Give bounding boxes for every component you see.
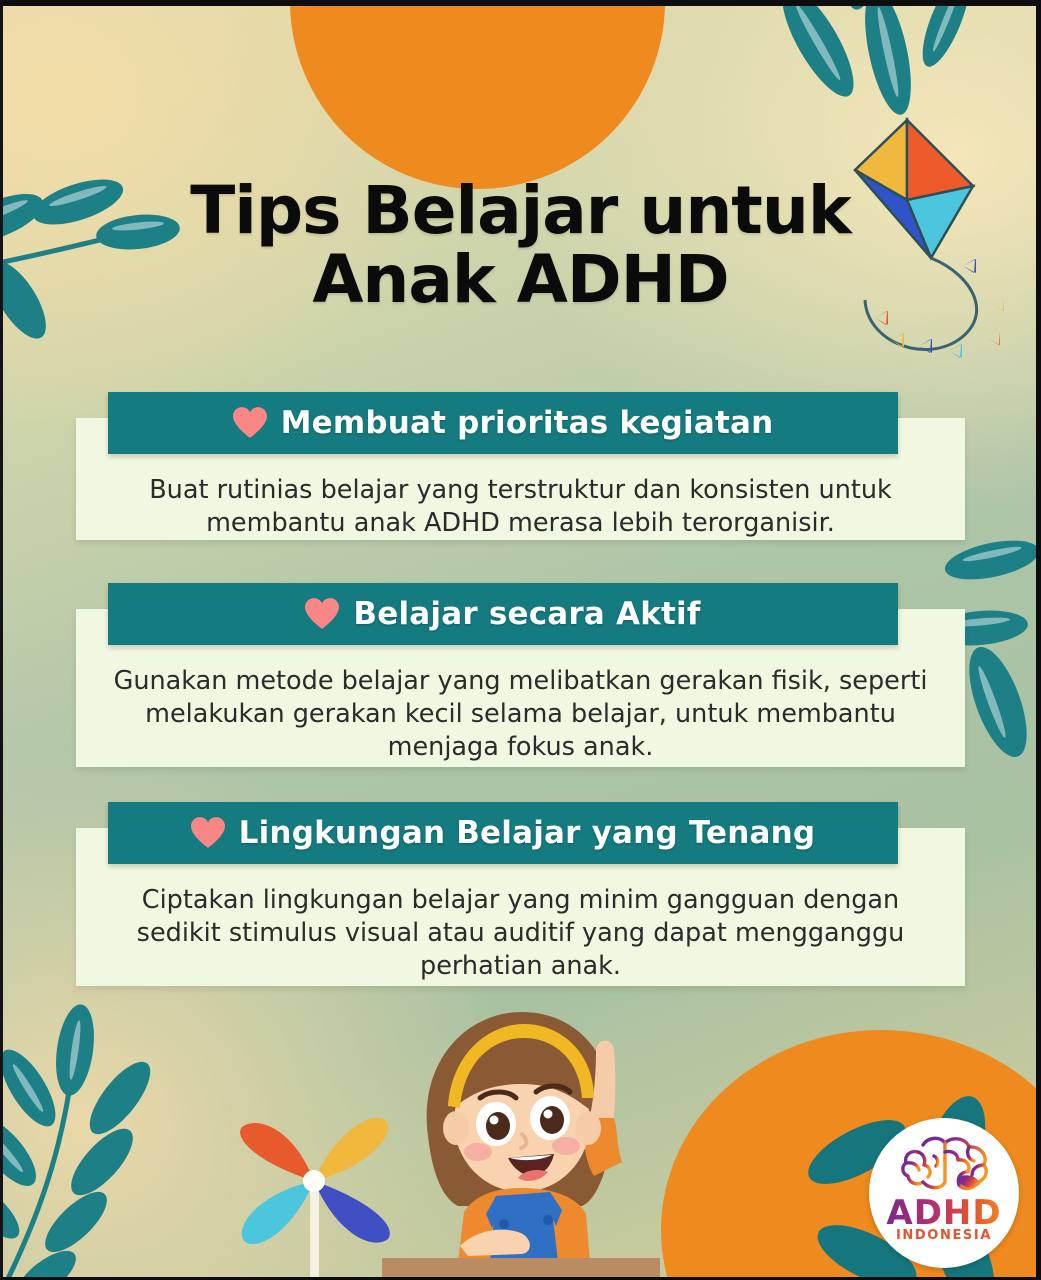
infographic-poster: Tips Belajar untuk Anak ADHD Buat rutini… [0, 0, 1041, 1280]
tip-card-heading: Belajar secara Aktif [353, 596, 700, 632]
brain-icon [896, 1132, 992, 1194]
logo-wordmark: ADHD [886, 1196, 1001, 1230]
tip-card-header: Membuat prioritas kegiatan [108, 392, 898, 454]
tip-card-header: Belajar secara Aktif [108, 583, 898, 645]
right-edge-bar [1036, 0, 1041, 1280]
tip-card-heading: Membuat prioritas kegiatan [281, 405, 774, 441]
heart-icon [305, 598, 339, 630]
tip-card-heading: Lingkungan Belajar yang Tenang [239, 815, 816, 851]
heart-icon [233, 407, 267, 439]
top-edge-bar [0, 0, 1041, 6]
heart-icon [191, 817, 225, 849]
tip-card-header: Lingkungan Belajar yang Tenang [108, 802, 898, 864]
tips-card-list: Buat rutinias belajar yang terstruktur d… [0, 0, 1041, 1280]
adhd-indonesia-logo-badge: ADHD INDONESIA [869, 1118, 1019, 1268]
left-edge-bar [0, 0, 3, 1280]
logo-subtitle: INDONESIA [896, 1228, 992, 1243]
